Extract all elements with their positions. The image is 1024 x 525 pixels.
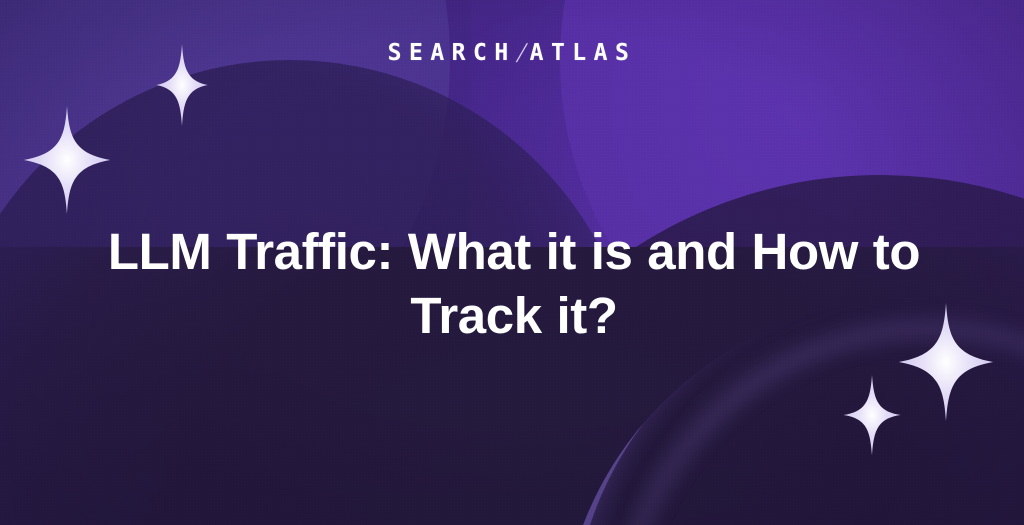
blog-hero-banner: SEARCH/ATLAS LLM Traffic: What it is and… [0,0,1024,525]
logo-text-atlas: ATLAS [530,40,637,66]
logo-slash-icon: / [514,40,530,66]
banner-content: SEARCH/ATLAS LLM Traffic: What it is and… [0,0,1024,525]
page-title-line-1: LLM Traffic: What it is and How to [66,220,962,284]
page-title: LLM Traffic: What it is and How to Track… [66,220,962,348]
searchatlas-logo: SEARCH/ATLAS [0,40,1024,66]
logo-text-search: SEARCH [388,40,516,66]
page-title-line-2: Track it? [66,284,962,348]
